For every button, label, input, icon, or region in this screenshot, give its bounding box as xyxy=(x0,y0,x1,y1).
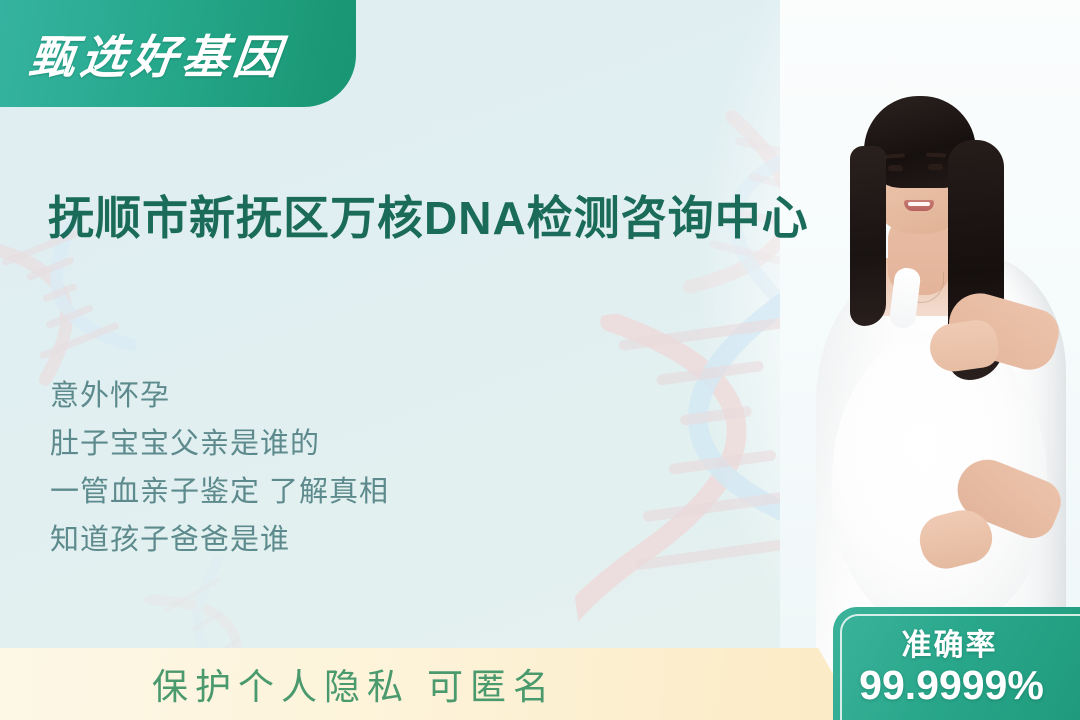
accuracy-badge: 准确率 99.9999% xyxy=(833,607,1080,720)
mouth xyxy=(904,200,934,211)
subcopy-line-2: 肚子宝宝父亲是谁的 xyxy=(50,420,389,468)
eye-right xyxy=(928,164,943,170)
subcopy-line-3: 一管血亲子鉴定 了解真相 xyxy=(50,468,389,516)
accuracy-label: 准确率 xyxy=(833,620,1066,664)
subcopy-line-1: 意外怀孕 xyxy=(50,372,389,420)
hair-left xyxy=(850,146,886,326)
subcopy-line-4: 知道孩子爸爸是谁 xyxy=(50,516,389,564)
subcopy-block: 意外怀孕 肚子宝宝父亲是谁的 一管血亲子鉴定 了解真相 知道孩子爸爸是谁 xyxy=(50,372,389,564)
page-title: 抚顺市新抚区万核DNA检测咨询中心 xyxy=(48,189,838,249)
promo-banner: 甄选好基因 抚顺市新抚区万核DNA检测咨询中心 意外怀孕 肚子宝宝父亲是谁的 一… xyxy=(0,0,1080,720)
accuracy-value: 99.9999% xyxy=(833,662,1070,709)
privacy-ribbon-text: 保护个人隐私 可匿名 xyxy=(152,658,556,710)
privacy-ribbon: 保护个人隐私 可匿名 xyxy=(0,648,860,720)
brand-logo-text: 甄选好基因 xyxy=(26,21,289,87)
brand-logo-badge: 甄选好基因 xyxy=(0,0,356,107)
eye-left xyxy=(888,165,903,171)
